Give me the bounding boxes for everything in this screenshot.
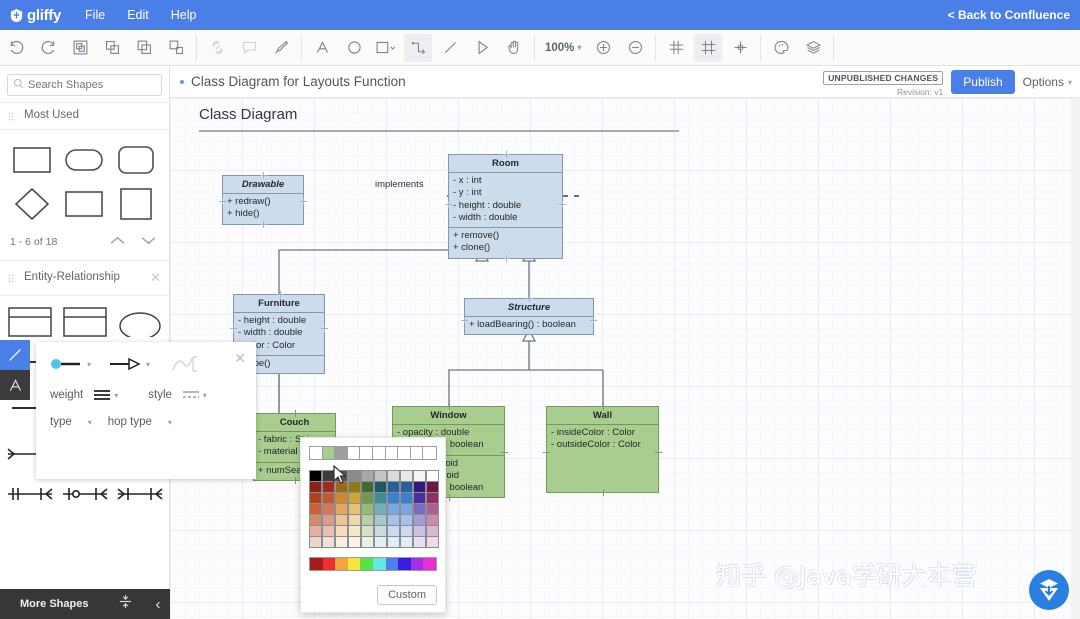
recent-swatch-9[interactable] (423, 447, 436, 459)
gliffy-app: gliffy File Edit Help < Back to Confluen… (0, 0, 1080, 619)
grid-group (660, 30, 756, 66)
recent-swatch-3[interactable] (348, 447, 361, 459)
history-group (0, 30, 192, 66)
color-swatch-6-4[interactable] (361, 536, 374, 548)
ungroup-icon[interactable] (98, 34, 126, 62)
annotate-group (201, 30, 297, 66)
er-relation-row-2 (2, 474, 167, 514)
shape-stadium[interactable] (58, 138, 110, 182)
line-tool[interactable] (0, 340, 30, 370)
uml-member: + clone() (453, 242, 558, 254)
spectrum-swatch-9[interactable] (423, 558, 436, 570)
line-weight-icon[interactable]: ▾ (93, 388, 118, 402)
page-title: Class Diagram for Layouts Function (191, 74, 406, 89)
spectrum-swatch-7[interactable] (398, 558, 411, 570)
recent-swatch-5[interactable] (373, 447, 386, 459)
select-icon[interactable] (468, 34, 496, 62)
uml-methods: + remove() + clone() (449, 227, 562, 258)
color-swatch-6-0[interactable] (309, 536, 322, 548)
shape-grid-most-used (0, 130, 169, 226)
more-shapes-bar[interactable]: More Shapes ‹ (0, 589, 170, 619)
document-bar: Class Diagram for Layouts Function UNPUB… (170, 66, 1080, 98)
weight-label: weight (50, 389, 83, 401)
brand-logo[interactable]: gliffy (9, 7, 61, 24)
style-group (765, 30, 829, 66)
hop-type-label: hop type (108, 416, 152, 428)
toolbar-divider-6 (833, 35, 834, 61)
line-weight-row: weight ▾ style ▾ (36, 374, 256, 402)
options-label: Options (1023, 75, 1064, 89)
recent-swatch-8[interactable] (411, 447, 424, 459)
uml-member: - width : double (238, 327, 320, 339)
vertical-scrollbar[interactable] (1071, 98, 1080, 619)
uml-member: + loadBearing() : boolean (469, 319, 589, 331)
color-picker-popup[interactable]: Custom (300, 437, 446, 613)
chevron-down-icon[interactable]: ▾ (168, 418, 172, 427)
shape-rectangle[interactable] (6, 138, 58, 182)
guides-icon[interactable] (662, 34, 690, 62)
section-header-entity-relationship[interactable]: Entity-Relationship ✕ (0, 260, 169, 296)
text-icon[interactable] (308, 34, 336, 62)
ellipse-icon[interactable] (340, 34, 368, 62)
rectangle-icon[interactable] (372, 34, 400, 62)
color-swatch-6-1[interactable] (322, 536, 335, 548)
chevron-down-icon: ▾ (203, 391, 207, 400)
publish-status: UNPUBLISHED CHANGES Revision: v1 (823, 68, 943, 97)
uml-member: + redraw() (227, 196, 299, 208)
watermark-text: 知乎 @Java学研大本营 (716, 556, 977, 592)
comment-icon[interactable] (235, 34, 263, 62)
shape-rectangle-wide[interactable] (58, 182, 110, 226)
relation-one-only[interactable] (112, 474, 167, 514)
search-shapes-box[interactable] (7, 74, 162, 96)
snap-icon[interactable] (726, 34, 754, 62)
line-end-arrow-icon[interactable]: ▾ (109, 358, 150, 370)
options-button[interactable]: Options ▾ (1023, 75, 1072, 89)
edge-label-text: implements (375, 179, 424, 190)
theme-palette-icon[interactable] (767, 34, 795, 62)
chevron-down-icon: ▾ (146, 360, 150, 369)
gliffy-logo-icon (9, 8, 24, 23)
pan-hand-icon[interactable] (500, 34, 528, 62)
line-type-row: type ▾ hop type ▾ (36, 402, 256, 428)
uml-methods: + loadBearing() : boolean (465, 317, 593, 334)
spectrum-swatch-4[interactable] (360, 558, 373, 570)
spectrum-swatch-1[interactable] (323, 558, 336, 570)
uml-member: - y : int (453, 187, 558, 199)
spectrum-swatch-6[interactable] (386, 558, 399, 570)
line-endpoints-row: ▾ ▾ (36, 342, 256, 374)
draw-group (306, 30, 530, 66)
line-style-popup[interactable]: ✕ ▾ ▾ weight ▾ style ▾ (36, 342, 256, 479)
menu-help[interactable]: Help (171, 8, 197, 22)
text-tool[interactable] (0, 370, 30, 400)
zoom-in-icon[interactable] (589, 34, 617, 62)
chevron-down-icon[interactable] (140, 233, 157, 251)
uml-class-name: Couch (254, 414, 335, 432)
recent-swatch-6[interactable] (386, 447, 399, 459)
uml-member: + remove() (453, 230, 558, 242)
uml-class-name: Room (449, 155, 562, 173)
line-start-dot-icon[interactable]: ▾ (50, 358, 91, 370)
uml-class-room[interactable]: Room - x : int - y : int - height : doub… (448, 154, 563, 259)
relation-one-mandatory[interactable] (2, 474, 57, 514)
uml-attributes: - insideColor : Color - outsideColor : C… (547, 425, 658, 492)
shape-diamond[interactable] (6, 182, 58, 226)
zoom-group: 100% ▾ (539, 30, 651, 66)
type-label: type (50, 416, 72, 428)
uml-attributes: - x : int - y : int - height : double - … (449, 173, 562, 227)
icon-toolbar: 100% ▾ (0, 30, 1080, 66)
color-swatch-6-5[interactable] (374, 536, 387, 548)
drag-grip-icon (8, 112, 15, 121)
bring-to-front-icon[interactable] (130, 34, 158, 62)
uml-member: - insideColor : Color (551, 427, 654, 439)
recent-swatch-1[interactable] (323, 447, 336, 459)
zhihu-download-icon[interactable] (1029, 570, 1069, 610)
close-icon[interactable]: ✕ (150, 270, 161, 286)
left-tool-strip (0, 340, 30, 400)
send-to-back-icon[interactable] (162, 34, 190, 62)
line-style-dashed-icon[interactable]: ▾ (182, 388, 207, 402)
er-shape-row-1 (2, 302, 167, 342)
color-swatch-6-8[interactable] (413, 536, 426, 548)
uml-member: - height : double (238, 315, 320, 327)
line-shape-icon[interactable] (168, 354, 198, 374)
chevron-up-icon[interactable] (109, 233, 126, 251)
relation-zero-one[interactable] (57, 474, 112, 514)
color-swatch-6-3[interactable] (348, 536, 361, 548)
style-label: style (148, 389, 172, 401)
spectrum-swatch-8[interactable] (411, 558, 424, 570)
format-painter-icon[interactable] (267, 34, 295, 62)
uml-class-name: Wall (547, 407, 658, 425)
recent-swatch-0[interactable] (310, 447, 323, 459)
status-badge: UNPUBLISHED CHANGES (823, 71, 943, 85)
color-swatch-6-6[interactable] (387, 536, 400, 548)
spectrum-swatch-2[interactable] (335, 558, 348, 570)
uml-class-name: Drawable (223, 176, 303, 194)
color-swatch-6-9[interactable] (426, 536, 439, 548)
uml-class-drawable[interactable]: Drawable + redraw() + hide() (222, 175, 304, 225)
section-title-most-used: Most Used (24, 109, 79, 122)
recent-swatch-4[interactable] (360, 447, 373, 459)
uml-member: - height : double (453, 200, 558, 212)
connector-icon[interactable] (404, 34, 432, 62)
unsaved-dot-icon (180, 80, 184, 84)
line-icon[interactable] (436, 34, 464, 62)
uml-class-name: Window (393, 407, 504, 425)
uml-methods: + redraw() + hide() (223, 194, 303, 224)
brand-name: gliffy (27, 7, 61, 24)
shape-entity-table-2[interactable] (57, 302, 112, 342)
edge-label-implements: implements (375, 179, 424, 190)
uml-class-name: Furniture (234, 295, 324, 313)
zoom-out-icon[interactable] (621, 34, 649, 62)
menu-list: File Edit Help (85, 8, 196, 22)
chevron-down-icon: ▾ (114, 391, 118, 400)
toolbar-divider-5 (760, 35, 761, 61)
chevron-down-icon[interactable]: ▾ (88, 418, 92, 427)
group-icon[interactable] (66, 34, 94, 62)
shape-pager: 1 - 6 of 18 (0, 226, 169, 260)
chevron-down-icon: ▾ (1068, 78, 1072, 87)
zoom-level-value: 100% (545, 42, 574, 54)
collapse-vertical-icon[interactable] (118, 594, 133, 614)
menu-file[interactable]: File (85, 8, 105, 22)
menu-edit[interactable]: Edit (127, 8, 149, 22)
search-icon (13, 76, 24, 94)
custom-color-button[interactable]: Custom (377, 585, 437, 605)
uml-member: - x : int (453, 175, 558, 187)
link-icon[interactable] (203, 34, 231, 62)
grid-icon[interactable] (694, 34, 722, 62)
chevron-down-icon: ▾ (577, 43, 581, 52)
redo-icon[interactable] (34, 34, 62, 62)
toolbar-divider-3 (534, 35, 535, 61)
chevron-left-icon[interactable]: ‹ (155, 596, 160, 613)
toolbar-divider-2 (301, 35, 302, 61)
close-icon[interactable]: ✕ (234, 350, 246, 367)
section-header-most-used[interactable]: Most Used (0, 102, 169, 130)
drag-grip-icon-2 (8, 274, 15, 283)
spectrum-row (309, 557, 437, 571)
uml-class-structure[interactable]: Structure + loadBearing() : boolean (464, 298, 594, 335)
more-shapes-label: More Shapes (20, 598, 88, 610)
recent-colors-row (309, 446, 437, 460)
pager-label: 1 - 6 of 18 (10, 236, 57, 248)
recent-swatch-7[interactable] (398, 447, 411, 459)
color-grid (309, 470, 437, 547)
search-input[interactable] (28, 79, 158, 91)
undo-icon[interactable] (2, 34, 30, 62)
uml-class-wall[interactable]: Wall - insideColor : Color - outsideColo… (546, 406, 659, 493)
uml-member: - outsideColor : Color (551, 439, 654, 451)
recent-swatch-2[interactable] (335, 447, 348, 459)
color-swatch-6-7[interactable] (400, 536, 413, 548)
layers-icon[interactable] (799, 34, 827, 62)
toolbar-divider-4 (655, 35, 656, 61)
revision-label: Revision: v1 (823, 87, 943, 97)
uml-member: + hide() (227, 208, 299, 220)
spectrum-swatch-0[interactable] (310, 558, 323, 570)
color-swatch-6-2[interactable] (335, 536, 348, 548)
shape-entity-table[interactable] (2, 302, 57, 342)
spectrum-swatch-5[interactable] (373, 558, 386, 570)
shape-entity-oval[interactable] (112, 302, 167, 342)
toolbar-divider (196, 35, 197, 61)
publish-button[interactable]: Publish (951, 70, 1014, 94)
shape-square[interactable] (110, 182, 162, 226)
document-actions: UNPUBLISHED CHANGES Revision: v1 Publish… (823, 66, 1072, 98)
zoom-level-selector[interactable]: 100% ▾ (539, 42, 587, 54)
pager-arrows (109, 233, 157, 251)
spectrum-swatch-3[interactable] (348, 558, 361, 570)
uml-member: - width : double (453, 212, 558, 224)
uml-class-name: Structure (465, 299, 593, 317)
menu-bar: gliffy File Edit Help < Back to Confluen… (0, 0, 1080, 30)
section-title-entity-relationship: Entity-Relationship (24, 271, 120, 284)
chevron-down-icon: ▾ (87, 360, 91, 369)
back-to-confluence-link[interactable]: < Back to Confluence (948, 8, 1070, 22)
shape-rounded-rect[interactable] (110, 138, 162, 182)
